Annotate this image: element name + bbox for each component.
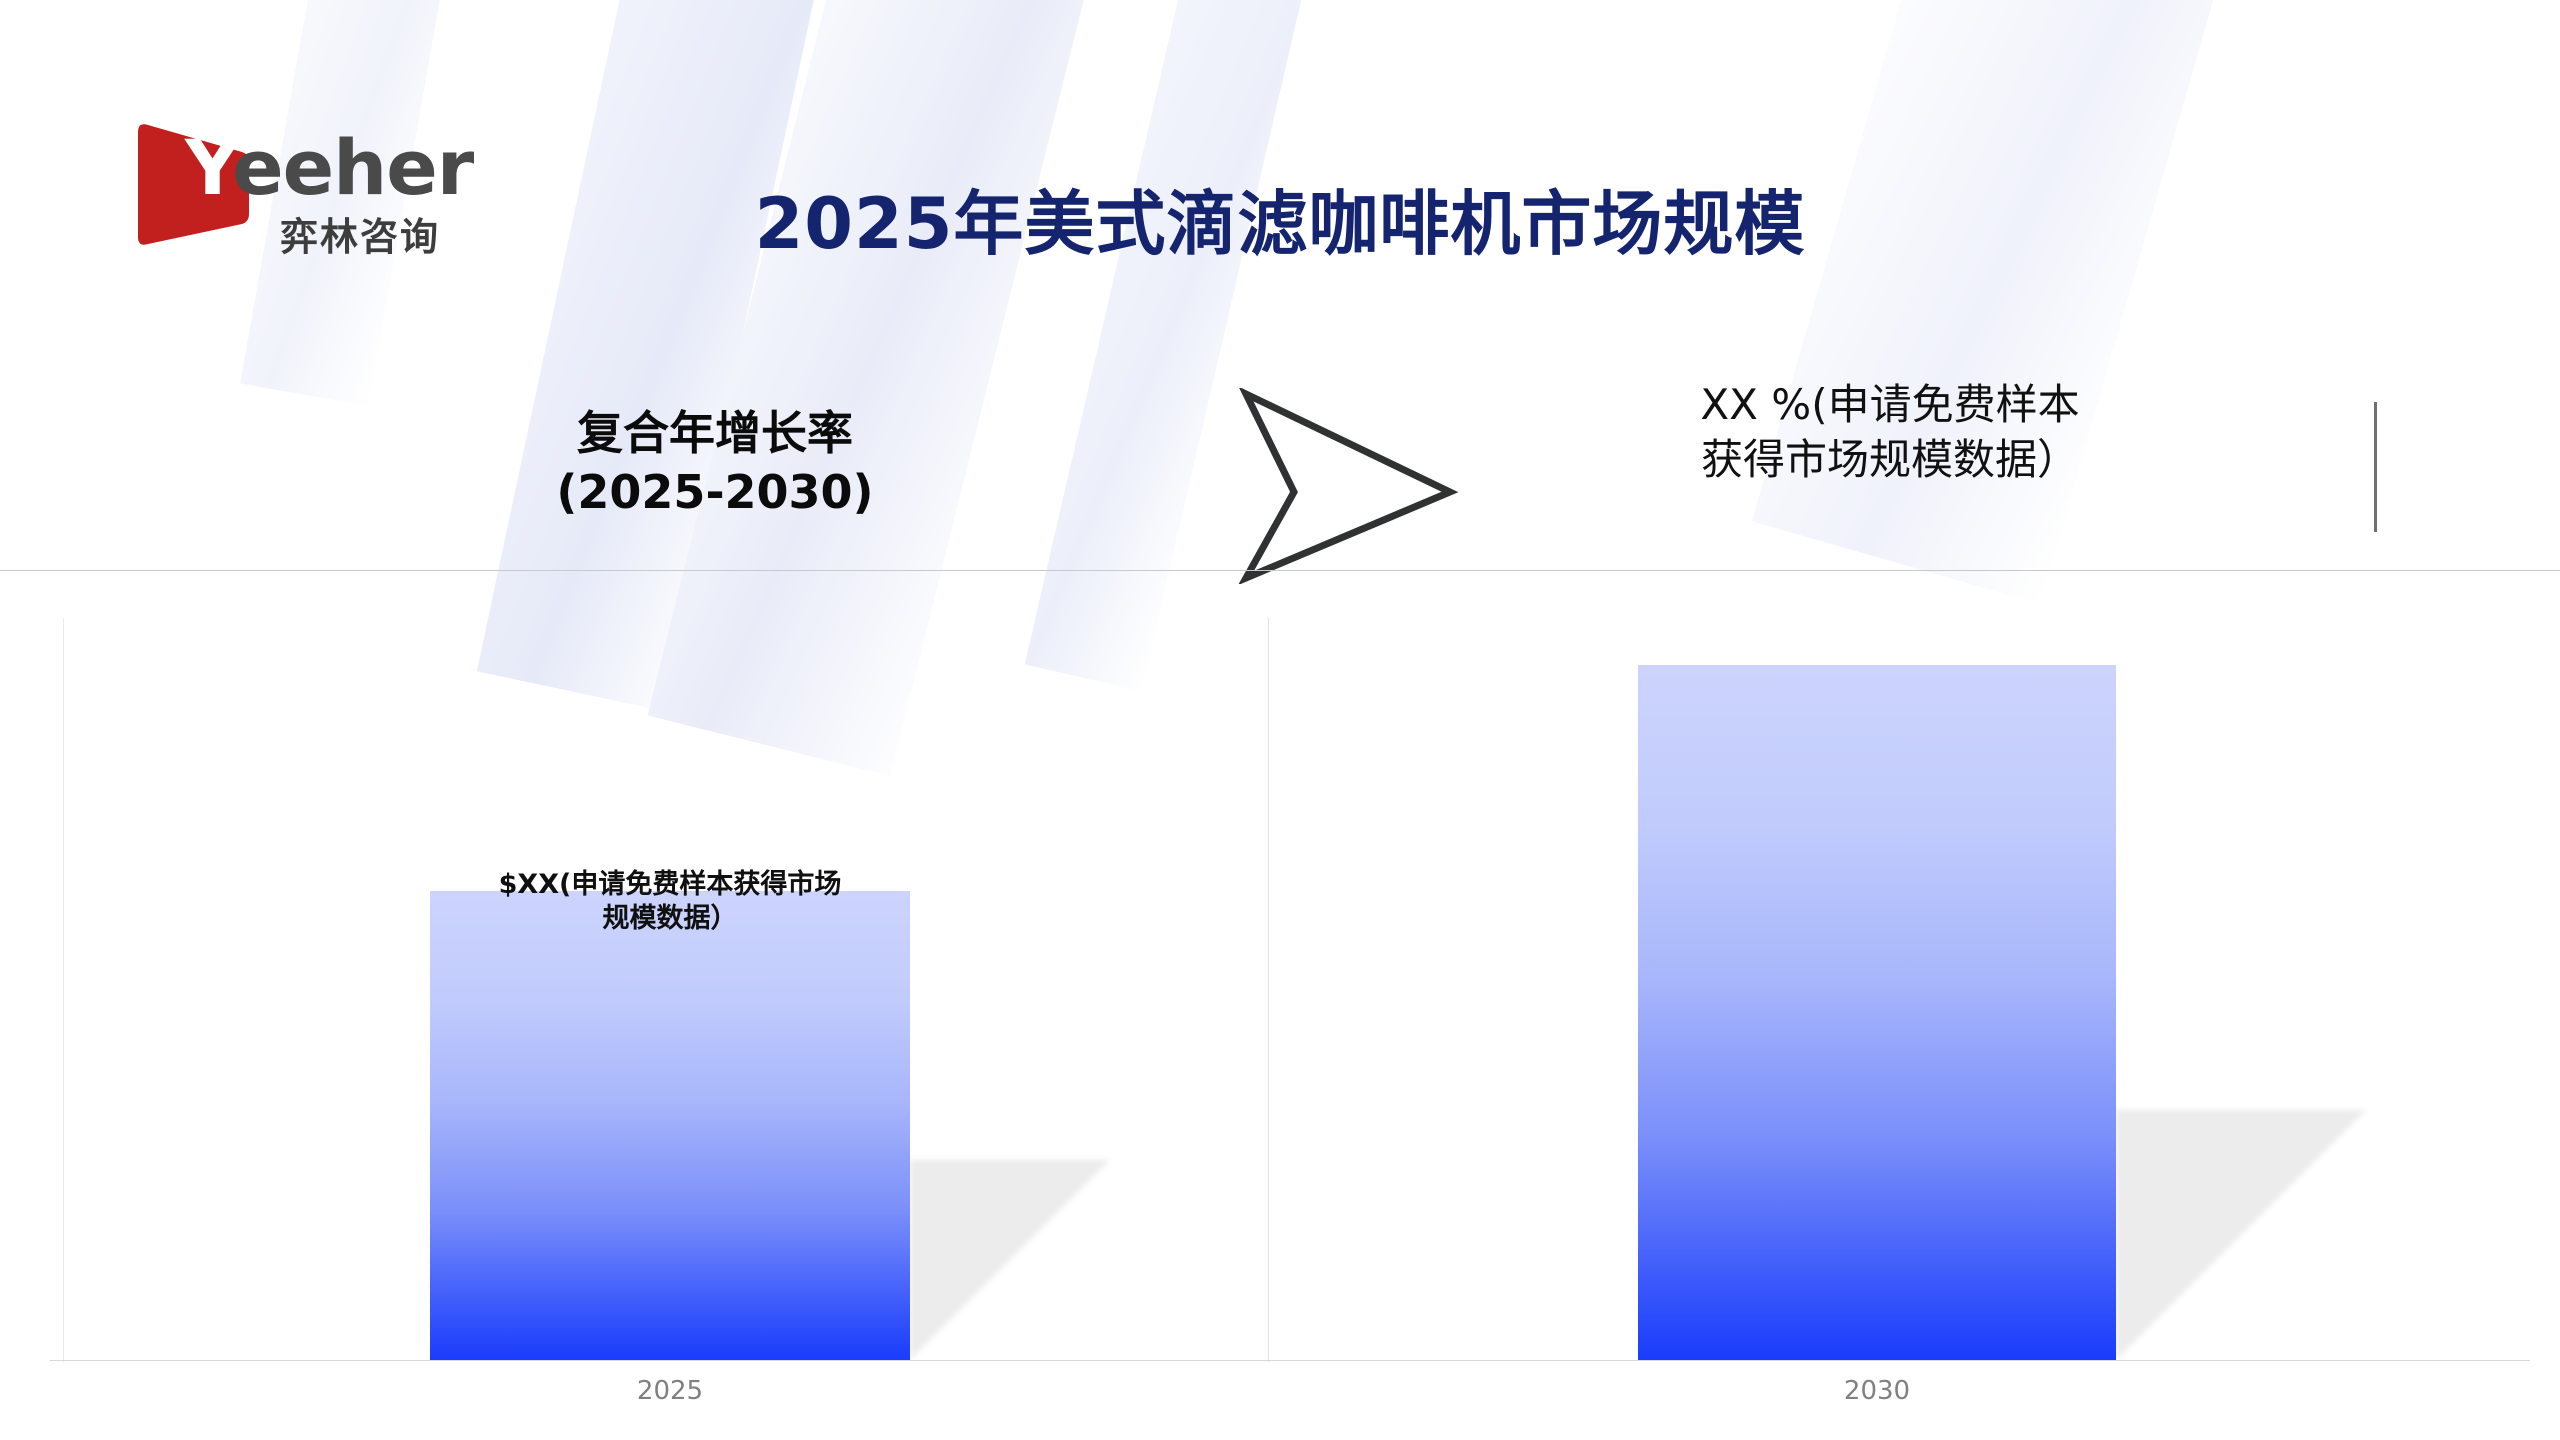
- bar-2030[interactable]: [1638, 665, 2116, 1360]
- page-title: 2025年美式滴滤咖啡机市场规模: [0, 168, 2560, 269]
- cagr-value-line2: 获得市场规模数据）: [1630, 433, 2150, 488]
- cagr-label-line2: (2025-2030): [540, 463, 890, 522]
- header-divider: [0, 570, 2560, 571]
- background-ribbon-5: [1752, 0, 2288, 604]
- background-ribbon-4: [1025, 0, 1356, 691]
- bar-value-label-2025-line2: 规模数据）: [440, 902, 900, 936]
- cagr-value: XX %(申请免费样本 获得市场规模数据）: [1630, 378, 2150, 487]
- bar-2025[interactable]: [430, 891, 910, 1360]
- bar-value-label-2025: $XX(申请免费样本获得市场 规模数据）: [440, 868, 900, 936]
- bar-shadow-2025: [910, 1160, 1110, 1360]
- chart-left-border: [63, 618, 64, 1362]
- cagr-label-line1: 复合年增长率: [540, 404, 890, 463]
- cagr-label: 复合年增长率 (2025-2030): [540, 404, 890, 522]
- slide-canvas: Yeeher 弈林咨询 2025年美式滴滤咖啡机市场规模 复合年增长率 (202…: [0, 0, 2560, 1440]
- vertical-separator: [2374, 402, 2377, 532]
- chart-mid-divider: [1268, 618, 1269, 1362]
- x-tick-2030: 2030: [1638, 1376, 2116, 1406]
- bar-value-label-2025-line1: $XX(申请免费样本获得市场: [440, 868, 900, 902]
- bar-shadow-2030: [2116, 1110, 2366, 1360]
- arrow-right-icon: [1238, 388, 1458, 584]
- bar-chart: $XX(申请免费样本获得市场 规模数据） 2025 2030: [0, 600, 2560, 1440]
- x-tick-2025: 2025: [430, 1376, 910, 1406]
- chart-axis-line: [50, 1360, 2530, 1361]
- cagr-value-line1: XX %(申请免费样本: [1630, 378, 2150, 433]
